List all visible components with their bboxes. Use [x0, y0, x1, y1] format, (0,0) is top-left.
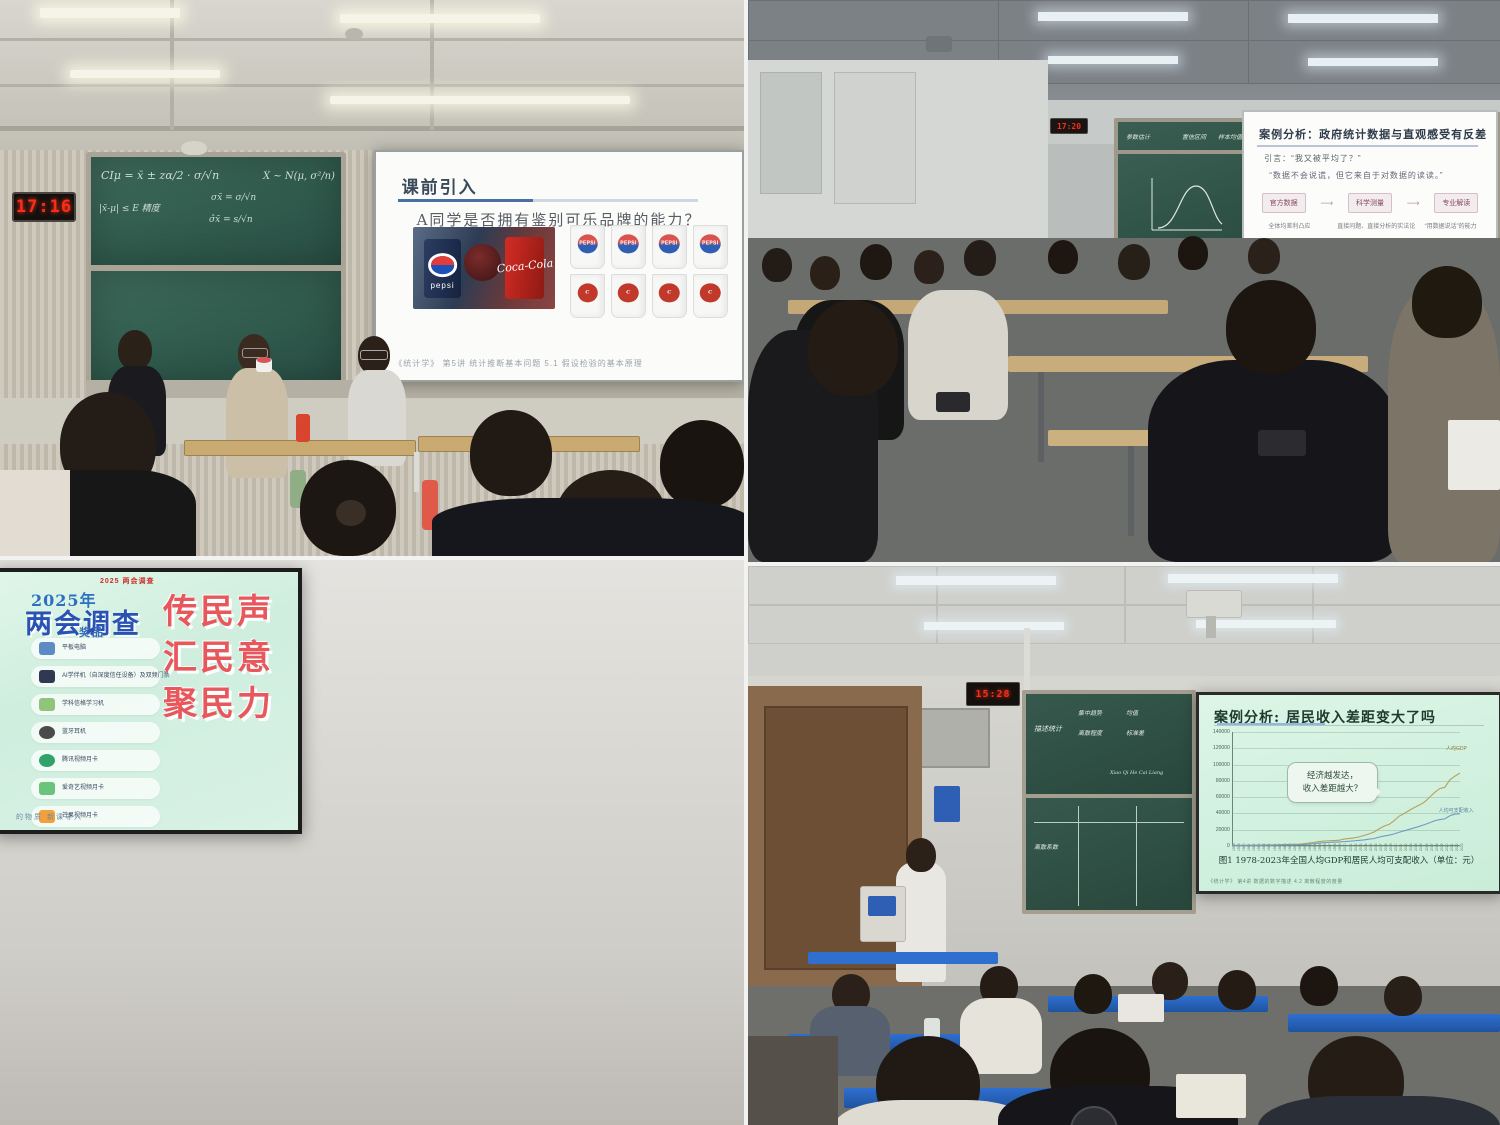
- desk-blue: [1288, 1014, 1500, 1032]
- slogan-line-3: 聚民力: [154, 682, 283, 728]
- blackboard-upper: CIμ = x̄ ± zα/2 · σ/√n σx̄ = σ/√n X̄ ~ N…: [86, 152, 346, 270]
- blackboard-lower: 离散系数: [1022, 794, 1196, 914]
- chalk-line: 样本均值: [1218, 132, 1242, 141]
- prize-label-3: 蓝牙耳机: [62, 729, 86, 736]
- ceiling-light: [1196, 620, 1336, 628]
- y-tick-label: 60000: [1216, 794, 1230, 800]
- ceiling-tile: [998, 0, 1250, 42]
- prize-label-4: 腾讯视频月卡: [62, 757, 98, 764]
- foreground-sleeve: [0, 470, 70, 556]
- prize-label-0: 平板电脑: [62, 645, 86, 652]
- list-item: 爱奇艺视频月卡: [31, 778, 160, 799]
- y-tick-label: 20000: [1216, 827, 1230, 833]
- pepsi-logo-icon: PEPSI: [577, 234, 597, 253]
- student-head: [860, 244, 892, 280]
- ceiling-tile: [1312, 566, 1500, 606]
- income-gap-chart: 0200004000060000800001000001200001400001…: [1232, 732, 1460, 846]
- panel-survey-slide: 2025 两会调查 2025年 两会调查 奖品 平板电脑 AI学伴机（自深度信任…: [0, 560, 744, 1125]
- chalk-line: 置信区间: [1182, 132, 1206, 141]
- foreground-head: [1412, 266, 1482, 338]
- flow-box-3: 专业解读: [1434, 193, 1478, 213]
- jacket-logo: [1258, 430, 1306, 456]
- projector: [1186, 590, 1242, 618]
- projector-mount: [1206, 616, 1216, 638]
- list-item: 腾讯视频月卡: [31, 750, 160, 771]
- student-head: [964, 240, 996, 276]
- student-head: [1178, 236, 1208, 270]
- cup-pepsi-1: PEPSI: [570, 225, 605, 269]
- ceiling-seam: [0, 38, 744, 41]
- cola-comparison-photo: pepsi Coca-Cola: [413, 227, 556, 309]
- cup-lid-icon: [257, 357, 271, 363]
- y-tick-label: 40000: [1216, 810, 1230, 816]
- y-tick-label: 0: [1227, 843, 1230, 849]
- pepsi-logo-icon: PEPSI: [700, 234, 720, 253]
- flow-box-1: 官方数据: [1262, 193, 1306, 213]
- slide-footer: 的物质 新课导入: [16, 812, 83, 822]
- foreground-body: [748, 1036, 838, 1125]
- tasting-cups-grid: PEPSI PEPSI PEPSI PEPSI C C C C: [570, 225, 727, 316]
- prize-list: 平板电脑 AI学伴机（自深度信任设备）及双频门票 学科信格学习机 蓝牙耳机 腾讯…: [31, 638, 160, 830]
- pepsi-wordmark: pepsi: [430, 281, 454, 290]
- cup-pepsi-4: PEPSI: [693, 225, 728, 269]
- ceiling-rib: [170, 0, 174, 130]
- pepsi-logo-icon: PEPSI: [618, 234, 638, 253]
- panel-cola-demo: 17:16 CIμ = x̄ ± zα/2 · σ/√n σx̄ = σ/√n …: [0, 0, 744, 556]
- cup-coke-1: C: [570, 274, 605, 318]
- projection-screen: 2025 两会调查 2025年 两会调查 奖品 平板电脑 AI学伴机（自深度信任…: [0, 568, 302, 834]
- prize-label-2: 学科信格学习机: [62, 701, 104, 708]
- chalk-line: CIμ = x̄ ± zα/2 · σ/√n: [101, 169, 219, 182]
- ai-device-icon: [39, 670, 55, 683]
- pepsi-logo-icon: PEPSI: [659, 234, 679, 253]
- chalk-line: 离散系数: [1034, 842, 1058, 851]
- list-item: 学科信格学习机: [31, 694, 160, 715]
- ceiling-light: [1168, 574, 1338, 583]
- tencent-video-icon: [39, 754, 55, 767]
- y-tick-label: 140000: [1213, 729, 1230, 735]
- chalk-heading: 描述统计: [1034, 724, 1062, 734]
- figure-caption: 图1 1978-2023年全国人均GDP和居民人均可支配收入（单位：元）: [1199, 854, 1499, 866]
- chalk-divider: [1136, 806, 1137, 906]
- ceiling-tile: [1312, 604, 1500, 644]
- slide-footer: 《统计学》 第5讲 统计推断基本问题 5.1 假设检验的基本原理: [394, 358, 642, 369]
- chalk-pinyin: Xiao Qi He Cai Liang: [1110, 770, 1163, 776]
- cup-pepsi-2: PEPSI: [611, 225, 646, 269]
- flow-caption-3: “用数据说话”的能力: [1418, 221, 1484, 230]
- cup-row-pepsi: PEPSI PEPSI PEPSI PEPSI: [570, 225, 727, 267]
- title-underline: [1257, 145, 1479, 147]
- y-tick-label: 120000: [1213, 745, 1230, 751]
- wall-speaker: [910, 708, 990, 768]
- chalk-line: 均值: [1126, 708, 1138, 717]
- ceiling-tile: [936, 566, 1126, 606]
- student-head: [1300, 966, 1338, 1006]
- student-head: [1218, 970, 1256, 1010]
- hanging-lamp-icon: [181, 141, 207, 155]
- photo-collage: 17:16 CIμ = x̄ ± zα/2 · σ/√n σx̄ = σ/√n …: [0, 0, 1500, 1125]
- smoke-detector-icon: [345, 28, 363, 40]
- desk-leg: [1128, 446, 1134, 536]
- chalk-line: σx̄ = σ/√n: [211, 193, 256, 203]
- student-head: [1384, 976, 1422, 1016]
- ceiling-light: [1308, 58, 1438, 66]
- student-head: [810, 256, 840, 290]
- chalk-line: σ̂x̄ = s/√n: [209, 215, 253, 225]
- y-tick-label: 100000: [1213, 762, 1230, 768]
- series-label-gdp: 人均GDP: [1446, 745, 1467, 752]
- chalk-tray: [86, 380, 744, 398]
- ceiling-light: [340, 14, 540, 23]
- panel-income-gap-lecture: 15:28 描述统计 集中趋势 离散程度 均值 标准差 Xiao Qi He C…: [748, 566, 1500, 1125]
- glasses-icon: [360, 350, 388, 360]
- wall-panel: [760, 72, 822, 194]
- ceiling-light: [330, 96, 630, 104]
- cup-coke-3: C: [652, 274, 687, 318]
- laptop: [1118, 994, 1164, 1022]
- slogan-line-2: 汇民意: [154, 636, 283, 682]
- hair-bun: [336, 500, 366, 526]
- digital-clock: 17:16: [12, 192, 76, 222]
- cup-coke-4: C: [693, 274, 728, 318]
- slide-two-sessions-survey: 2025 两会调查 2025年 两会调查 奖品 平板电脑 AI学伴机（自深度信任…: [0, 572, 298, 830]
- chalk-line: 离散程度: [1078, 728, 1102, 737]
- ceiling-light: [896, 576, 1056, 585]
- teacher-head: [906, 838, 936, 872]
- flow-box-2: 科学测量: [1348, 193, 1392, 213]
- desk-leg: [1038, 372, 1044, 462]
- coke-logo-icon: C: [659, 283, 679, 302]
- slogan-block: 传民声 汇民意 聚民力: [154, 590, 283, 728]
- cup-coke-2: C: [611, 274, 646, 318]
- callout-line-1: 经济越发达，: [1294, 770, 1372, 783]
- cup-row-coke: C C C C: [570, 274, 727, 316]
- chalk-divider: [1078, 806, 1079, 906]
- panel-lecture-hall: 17:20 参数估计 置信区间 样本均值 案例分析：政府统计数据与直观感受有反差…: [748, 0, 1500, 562]
- projection-screen: 案例分析: 居民收入差距变大了吗 02000040000600008000010…: [1196, 692, 1500, 894]
- slide-footer: 《统计学》 第4讲 数据的数字描述 4.2 离散程度的度量: [1208, 878, 1343, 885]
- projection-screen: 课前引入 A同学是否拥有鉴别可乐品牌的能力？ pepsi Coca-Cola: [374, 150, 744, 382]
- slide-title: 案例分析：政府统计数据与直观感受有反差: [1259, 126, 1487, 142]
- slide-subtitle: 引言：“我又被平均了？”: [1264, 153, 1361, 164]
- student-head: [914, 250, 944, 284]
- smartphone: [936, 392, 970, 412]
- normal-curve-sketch: [1118, 154, 1252, 246]
- chalk-line: 参数估计: [1126, 132, 1150, 141]
- blackboard-upper: 描述统计 集中趋势 离散程度 均值 标准差 Xiao Qi He Cai Lia…: [1022, 690, 1196, 798]
- projector: [926, 36, 952, 52]
- prize-label-5: 爱奇艺视频月卡: [62, 785, 104, 792]
- clock-time: 15:28: [975, 689, 1010, 700]
- chalk-line: 集中趋势: [1078, 708, 1102, 717]
- notebook: [1176, 1074, 1246, 1118]
- y-tick-label: 80000: [1216, 778, 1230, 784]
- headphones-icon: [39, 726, 55, 739]
- digital-clock: 17:20: [1050, 118, 1088, 134]
- foreground-head: [808, 300, 898, 396]
- digital-clock: 15:28: [966, 682, 1020, 706]
- desk-blue: [808, 952, 998, 964]
- slide-income-gap: 案例分析: 居民收入差距变大了吗 02000040000600008000010…: [1199, 695, 1499, 891]
- student-head: [1248, 238, 1280, 274]
- callout-bubble: 经济越发达， 收入差距越大？: [1287, 762, 1379, 804]
- ceiling-seam: [0, 84, 744, 87]
- flow-diagram: 官方数据 ⟶ 科学测量 ⟶ 专业解读: [1262, 191, 1479, 215]
- learning-machine-icon: [39, 698, 55, 711]
- ceiling-light: [40, 8, 180, 18]
- student-head: [1048, 240, 1078, 274]
- wall-panel: [834, 72, 916, 204]
- ceiling-light: [924, 622, 1064, 630]
- title-underline: [398, 199, 698, 202]
- foreground-body: [1148, 360, 1398, 562]
- slide-cola: 课前引入 A同学是否拥有鉴别可乐品牌的能力？ pepsi Coca-Cola: [376, 152, 742, 380]
- desk: [184, 440, 416, 456]
- ceiling-tile: [748, 0, 1000, 42]
- title-rule: [1214, 725, 1484, 726]
- iqiyi-icon: [39, 782, 55, 795]
- straw: [414, 452, 419, 492]
- list-item: 平板电脑: [31, 638, 160, 659]
- university-emblem: [868, 896, 896, 916]
- slide-title: 课前引入: [402, 173, 478, 198]
- clock-time: 17:16: [16, 197, 72, 217]
- cup-pepsi-3: PEPSI: [652, 225, 687, 269]
- student-head: [1118, 244, 1150, 280]
- series-label-income: 人均可支配收入: [1439, 807, 1474, 814]
- student-head: [762, 248, 792, 282]
- foreground-head: [1226, 280, 1316, 374]
- ceiling-light: [1038, 12, 1188, 21]
- ceiling-tile: [748, 604, 938, 644]
- arrow-icon: ⟶: [1407, 198, 1420, 209]
- coke-can-image: Coca-Cola: [505, 237, 544, 299]
- chalk-line: X̄ ~ N(μ, σ²/n): [263, 171, 335, 182]
- slide-quote: “数据不会说谎，但它来自于对数据的读读。”: [1269, 170, 1443, 181]
- slide-header: 2025 两会调查: [100, 576, 155, 586]
- arrow-icon: ⟶: [1320, 198, 1333, 209]
- foreground-head: [470, 410, 552, 496]
- flow-caption-2: 直接问题、直接分析的实法论: [1337, 221, 1403, 230]
- ceiling-edge: [0, 126, 744, 131]
- ceiling-tile: [748, 566, 938, 606]
- list-item: 蓝牙耳机: [31, 722, 160, 743]
- blackboard-lower-left: [1114, 150, 1256, 250]
- soda-can: [296, 414, 310, 442]
- flow-caption-1: 全体均差利凸应: [1257, 221, 1323, 230]
- student-head: [1074, 974, 1112, 1014]
- pepsi-can-image: pepsi: [424, 239, 461, 298]
- coke-logo-icon: C: [577, 283, 597, 302]
- foreground-head: [660, 420, 744, 508]
- chalk-divider: [1034, 822, 1184, 823]
- foreground-body: [1258, 1096, 1500, 1125]
- x-tick-label: 2023: [1460, 843, 1464, 851]
- ceiling-light: [1288, 14, 1438, 23]
- chalk-line: 标准差: [1126, 728, 1144, 737]
- clock-time: 17:20: [1057, 122, 1081, 131]
- coke-logo-icon: C: [618, 283, 638, 302]
- pepsi-logo-icon: [431, 256, 455, 274]
- foreground-body: [432, 498, 744, 556]
- slogan-line-1: 传民声: [154, 590, 283, 636]
- list-item: AI学伴机（自深度信任设备）及双频门票: [31, 666, 160, 687]
- tablet-icon: [39, 642, 55, 655]
- ceiling-light: [70, 70, 220, 78]
- coke-wordmark: Coca-Cola: [496, 256, 554, 275]
- chalk-line: |x̄-μ| ≤ E 精度: [99, 201, 160, 214]
- notebook: [1448, 420, 1500, 490]
- wall-notice: [934, 786, 960, 822]
- callout-line-2: 收入差距越大？: [1294, 783, 1372, 796]
- ceiling-light: [1048, 56, 1178, 64]
- coke-logo-icon: C: [700, 283, 720, 302]
